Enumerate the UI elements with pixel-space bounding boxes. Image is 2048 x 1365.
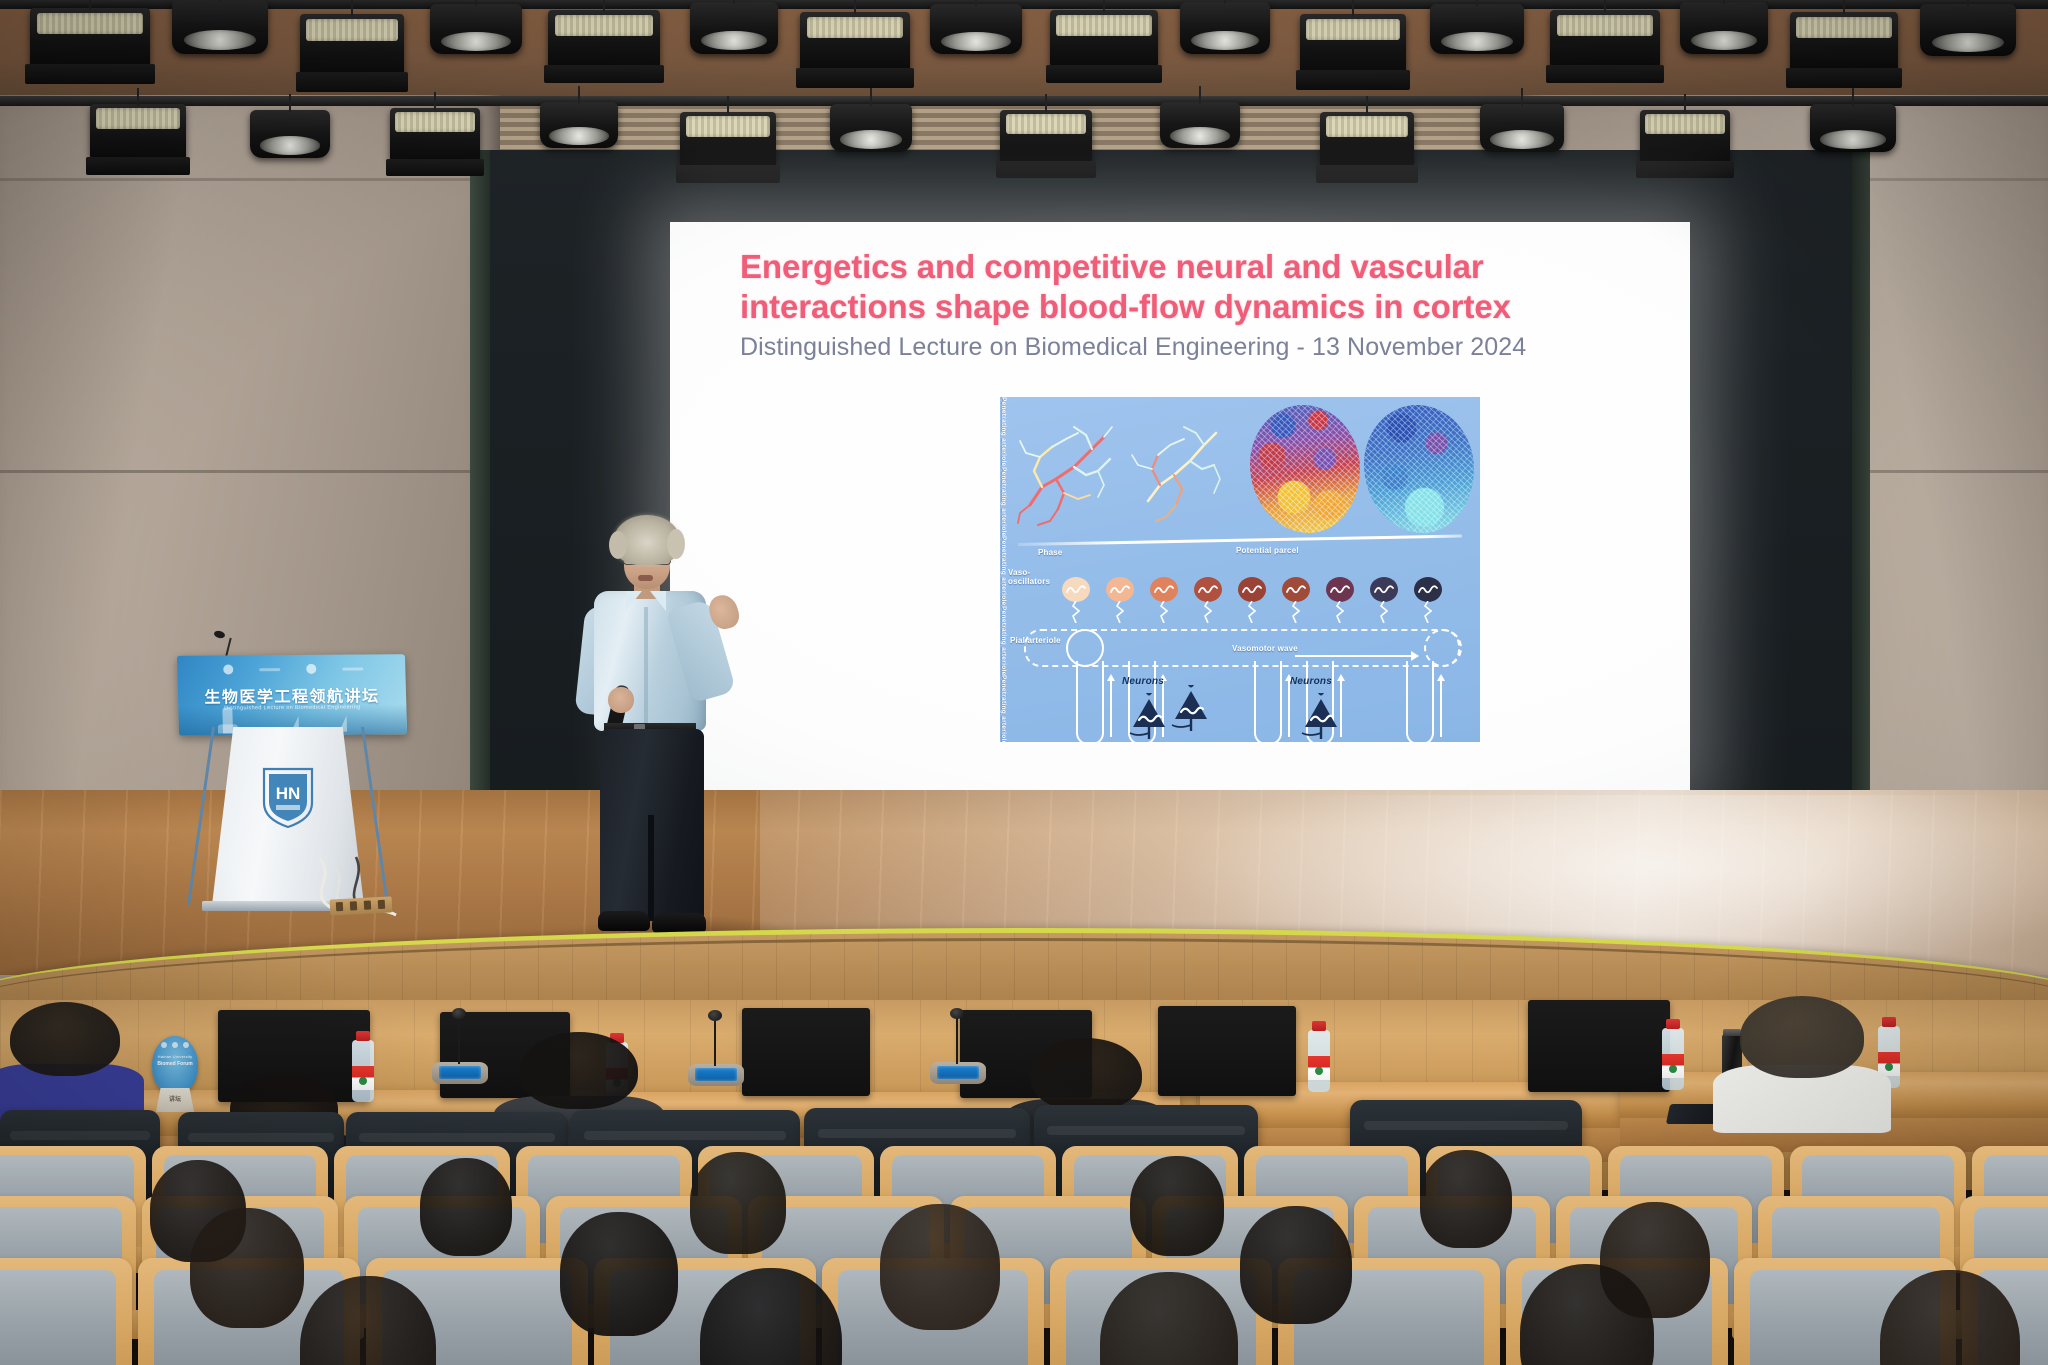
- stage-light-fixture-fres-5: [548, 10, 660, 68]
- light-lens: [1645, 114, 1724, 133]
- stage-light-fixture-par-14: [1680, 2, 1768, 54]
- light-body: [90, 104, 186, 160]
- university-crest-svg: HN: [260, 763, 316, 829]
- lecture-hall-photograph: Energetics and competitive neural and va…: [0, 0, 2048, 1365]
- seat-back-cushion: [0, 1270, 116, 1365]
- vaso-oscillator-7: [1326, 577, 1354, 602]
- pyramidal-neuron-3: [1300, 693, 1342, 739]
- figure-label-penetrating-arteriole-3: Penetrating arteriole: [1000, 536, 1007, 606]
- vascular-tree-svg-1: [1012, 409, 1122, 531]
- backdrop-right-edge: [1852, 150, 1870, 790]
- light-yoke: [1366, 96, 1368, 114]
- sign-line-2: Biomed Forum: [152, 1061, 198, 1067]
- light-body: [1050, 10, 1158, 68]
- pyramidal-neuron-svg-3: [1300, 693, 1342, 739]
- mic-gooseneck-1: [458, 1016, 460, 1064]
- light-lens: [96, 108, 180, 128]
- bottle-cap-4: [1666, 1019, 1680, 1029]
- floor-power-strip: [330, 896, 393, 915]
- penetrating-arteriole-3: [1254, 661, 1282, 742]
- bottle-label-3: [1308, 1056, 1330, 1080]
- oscillation-wave-icon-8: [1374, 584, 1394, 595]
- barn-door: [1636, 161, 1733, 178]
- light-body: [30, 8, 150, 68]
- barn-door: [86, 157, 190, 175]
- mic-display-1: [439, 1066, 481, 1079]
- audience-member-5: [1420, 1150, 1512, 1248]
- figure-label-neurons-right: Neurons: [1290, 677, 1332, 688]
- audience-head-15: [1880, 1270, 2020, 1365]
- light-yoke: [1684, 94, 1686, 112]
- light-yoke: [137, 88, 139, 106]
- light-yoke: [975, 0, 977, 6]
- vaso-oscillator-6: [1282, 577, 1310, 602]
- water-bottle-4: [1662, 1028, 1684, 1090]
- light-yoke: [603, 0, 605, 12]
- penetrating-arteriole-5: [1406, 661, 1434, 742]
- light-yoke: [475, 0, 477, 6]
- audience-head-3: [690, 1152, 786, 1254]
- light-lens: [1191, 31, 1259, 51]
- light-yoke: [1045, 94, 1047, 112]
- light-yoke: [870, 88, 872, 106]
- barn-door: [1786, 68, 1903, 87]
- lectern-left-edge: [187, 727, 215, 905]
- light-body: [1000, 110, 1092, 164]
- light-yoke: [289, 94, 291, 112]
- stage-light-fixture-par-26: [1480, 104, 1564, 152]
- attendee-head-1: [10, 1002, 120, 1076]
- conference-microphone-1[interactable]: [432, 1062, 488, 1084]
- light-body: [1180, 2, 1270, 54]
- light-body: [1430, 4, 1524, 54]
- attendee-head-4: [1740, 996, 1864, 1078]
- stage-light-fixture-fres-19: [390, 108, 480, 162]
- light-lens: [37, 13, 143, 35]
- lectern-banner: 生物医学工程领航讲坛 Distinguished Lecture on Biom…: [177, 654, 407, 736]
- banner-logo-2: [306, 664, 316, 674]
- conference-microphone-3[interactable]: [930, 1062, 986, 1084]
- light-lens: [1820, 130, 1885, 148]
- speaker-shirt-placket: [644, 607, 648, 725]
- light-yoke: [1723, 0, 1725, 4]
- table-sign-stand: 讲坛: [156, 1088, 194, 1112]
- light-lens: [1490, 130, 1554, 148]
- audience-member-15: [1880, 1270, 2020, 1365]
- light-body: [1300, 14, 1406, 74]
- banner-lighthouse-icon: [222, 707, 233, 733]
- audience-head-2: [420, 1158, 512, 1256]
- figure-label-potential-parcel: Potential parcel: [1236, 547, 1299, 556]
- stage-light-fixture-par-2: [172, 0, 268, 54]
- banner-palm-icon: [192, 714, 209, 734]
- speaker-hair: [614, 515, 680, 565]
- speaker-left-hand: [608, 687, 634, 713]
- light-body: [1550, 10, 1660, 68]
- oscillator-stem-7: [1336, 601, 1344, 623]
- light-lens: [1056, 15, 1151, 36]
- light-yoke: [1852, 88, 1854, 106]
- left-wall-seam-upper: [0, 178, 500, 181]
- oscillator-stem-4: [1204, 601, 1212, 623]
- light-yoke: [727, 96, 729, 114]
- banner-logo-row: [223, 663, 363, 676]
- penetrating-flow-arrow-5: [1440, 679, 1442, 737]
- stage-light-fixture-par-12: [1430, 4, 1524, 54]
- light-yoke: [89, 0, 91, 10]
- auditorium-seat-r3-1[interactable]: [0, 1258, 132, 1365]
- audience-head-12: [700, 1268, 842, 1365]
- front-row-attendee-1: [10, 1002, 120, 1122]
- left-wall-seam: [0, 470, 500, 473]
- speaker-right-shoe: [652, 913, 706, 933]
- light-lens: [1006, 114, 1087, 133]
- light-lens: [306, 19, 398, 41]
- light-lens: [1691, 31, 1758, 51]
- stage-light-fixture-fres-9: [1050, 10, 1158, 68]
- audience-member-11: [300, 1276, 436, 1365]
- stage-light-fixture-par-16: [1920, 4, 2016, 56]
- barn-door: [544, 65, 665, 84]
- slide-title: Energetics and competitive neural and va…: [740, 247, 1620, 328]
- oscillator-stem-8: [1380, 601, 1388, 623]
- vascular-tree-panel-1: [1012, 409, 1122, 531]
- oscillator-stem-3: [1160, 601, 1168, 623]
- barn-door: [796, 68, 915, 87]
- stage-light-fixture-par-28: [1810, 104, 1896, 152]
- stage-light-fixture-par-22: [830, 104, 912, 152]
- bottle-label-1: [352, 1066, 374, 1090]
- stage-light-fixture-fres-15: [1790, 12, 1898, 72]
- bottle-label-4: [1662, 1054, 1684, 1078]
- light-yoke: [434, 92, 436, 110]
- light-lens: [549, 127, 608, 144]
- audience-head-13: [1100, 1272, 1238, 1365]
- university-crest: HN: [260, 763, 316, 829]
- vaso-oscillator-8: [1370, 577, 1398, 602]
- light-body: [690, 2, 778, 54]
- mic-display-2: [695, 1068, 737, 1081]
- oscillation-wave-icon-4: [1198, 584, 1218, 595]
- light-lens: [1441, 32, 1512, 51]
- stage-light-fixture-par-24: [1160, 102, 1240, 148]
- vaso-oscillator-5: [1238, 577, 1266, 602]
- mic-gooseneck-2: [714, 1018, 716, 1066]
- backdrop-left-edge: [470, 150, 490, 790]
- oscillator-stem-6: [1292, 601, 1300, 623]
- stage-light-fixture-fres-7: [800, 12, 910, 72]
- banner-logo-1: [223, 664, 233, 674]
- light-lens: [184, 30, 257, 51]
- light-lens: [1932, 33, 2005, 53]
- stage-light-fixture-par-6: [690, 2, 778, 54]
- light-body: [430, 4, 522, 54]
- light-body: [548, 10, 660, 68]
- audience-head-5: [1420, 1150, 1512, 1248]
- figure-label-neurons-left: Neurons: [1122, 677, 1164, 688]
- light-yoke: [1103, 0, 1105, 12]
- crest-initials-text: HN: [276, 784, 301, 803]
- vaso-oscillator-9: [1414, 577, 1442, 602]
- oscillation-wave-icon-5: [1242, 584, 1262, 595]
- light-body: [930, 4, 1022, 54]
- oscillation-wave-icon-6: [1286, 584, 1306, 595]
- lighting-truss-lower: [0, 96, 2048, 106]
- slide-subtitle: Distinguished Lecture on Biomedical Engi…: [740, 332, 1640, 362]
- barn-door: [386, 159, 483, 176]
- light-yoke: [733, 0, 735, 4]
- banner-logo-text-1: [259, 668, 280, 671]
- water-bottle-3: [1308, 1030, 1330, 1092]
- barn-door: [676, 165, 780, 183]
- light-lens: [395, 112, 474, 131]
- light-yoke: [1199, 86, 1201, 104]
- light-yoke: [1843, 0, 1845, 14]
- penetrating-arteriole-1: [1076, 661, 1104, 742]
- audience-head-9: [1240, 1206, 1352, 1324]
- bottle-cap-5: [1882, 1017, 1896, 1027]
- light-yoke: [1967, 0, 1969, 6]
- light-body: [390, 108, 480, 162]
- speaker-left-shoe: [598, 911, 650, 931]
- light-yoke: [1521, 88, 1523, 106]
- light-lens: [840, 130, 902, 148]
- slide-figure: Phase Potential parcel Vaso-oscillators …: [1000, 397, 1480, 742]
- audience-head-4: [1130, 1156, 1224, 1256]
- bottle-cap-3: [1312, 1021, 1326, 1031]
- light-body: [1640, 110, 1730, 164]
- light-lens: [441, 32, 511, 51]
- water-bottle-1: [352, 1040, 374, 1102]
- barn-door: [296, 72, 408, 92]
- audience-member-6: [190, 1208, 304, 1328]
- vaso-oscillator-1: [1062, 577, 1090, 602]
- attendee-head-2: [520, 1032, 638, 1109]
- light-lens: [555, 15, 654, 36]
- light-yoke: [1604, 0, 1606, 12]
- pyramidal-neuron-svg-2: [1170, 685, 1212, 731]
- recessed-monitor-6: [1528, 1000, 1670, 1092]
- audience-head-14: [1520, 1264, 1654, 1365]
- stage-light-fixture-par-10: [1180, 2, 1270, 54]
- projection-screen: Energetics and competitive neural and va…: [670, 222, 1690, 797]
- oscillator-stem-9: [1424, 601, 1432, 623]
- light-yoke: [1476, 0, 1478, 6]
- attendee-head-3: [1030, 1038, 1142, 1111]
- stage-light-fixture-fres-13: [1550, 10, 1660, 68]
- audience-head-11: [300, 1276, 436, 1365]
- figure-top-panels: [1000, 397, 1480, 539]
- mic-capsule-3: [950, 1008, 964, 1019]
- light-body: [1790, 12, 1898, 72]
- audience-member-8: [880, 1204, 1000, 1330]
- audience-member-2: [420, 1158, 512, 1256]
- light-yoke: [854, 0, 856, 14]
- sign-logo-dots: [161, 1042, 189, 1048]
- barn-door: [1546, 65, 1665, 84]
- barn-door: [1046, 65, 1163, 84]
- audience-head-7: [560, 1212, 678, 1336]
- banner-logo-text-2: [342, 667, 363, 670]
- light-yoke: [1224, 0, 1226, 4]
- vascular-tree-panel-2: [1126, 409, 1236, 531]
- light-lens: [1796, 17, 1891, 39]
- figure-label-phase: Phase: [1038, 549, 1063, 558]
- vaso-oscillator-3: [1150, 577, 1178, 602]
- light-body: [1320, 112, 1414, 168]
- vascular-tree-svg-2: [1126, 409, 1236, 531]
- light-lens: [1170, 127, 1231, 144]
- oscillation-wave-icon-7: [1330, 584, 1350, 595]
- light-body: [540, 102, 618, 148]
- pyramidal-neuron-2: [1170, 685, 1212, 731]
- audience-member-14: [1520, 1264, 1654, 1365]
- light-body: [800, 12, 910, 72]
- audience-member-13: [1100, 1272, 1238, 1365]
- mic-capsule-1: [452, 1008, 466, 1019]
- audience-member-3: [690, 1152, 786, 1254]
- audience-head-6: [190, 1208, 304, 1328]
- audience-member-12: [700, 1268, 842, 1365]
- sign-line-1: Hainan University: [152, 1054, 198, 1059]
- light-lens: [1326, 116, 1409, 136]
- light-yoke: [351, 0, 353, 16]
- stage-light-fixture-fres-17: [90, 104, 186, 160]
- light-body: [1810, 104, 1896, 152]
- stage-light-fixture-fres-21: [680, 112, 776, 168]
- oscillation-wave-icon-9: [1418, 584, 1438, 595]
- conference-microphone-2[interactable]: [688, 1064, 744, 1086]
- light-body: [1480, 104, 1564, 152]
- speaker-shirt-collar: [624, 591, 668, 611]
- speaker-leg-gap: [648, 815, 654, 921]
- barn-door: [25, 64, 155, 83]
- front-row-attendee-4: [1740, 996, 1864, 1128]
- light-body: [1920, 4, 2016, 56]
- mic-capsule-2: [708, 1010, 722, 1021]
- barn-door: [996, 161, 1095, 178]
- light-body: [300, 14, 404, 76]
- figure-label-penetrating-arteriole-4: Penetrating arteriole: [1000, 606, 1007, 676]
- audience-member-7: [560, 1212, 678, 1336]
- audience-member-9: [1240, 1206, 1352, 1324]
- light-body: [250, 110, 330, 158]
- oscillation-wave-icon-3: [1154, 584, 1174, 595]
- light-yoke: [1352, 0, 1354, 16]
- light-lens: [807, 17, 904, 39]
- stage-light-fixture-fres-25: [1320, 112, 1414, 168]
- light-body: [172, 0, 268, 54]
- speaker-mouth: [638, 575, 653, 581]
- pyramidal-neuron-1: [1128, 693, 1170, 739]
- light-body: [680, 112, 776, 168]
- vaso-oscillator-4: [1194, 577, 1222, 602]
- stage-light-fixture-fres-11: [1300, 14, 1406, 74]
- light-body: [1160, 102, 1240, 148]
- stage-light-fixture-fres-23: [1000, 110, 1092, 164]
- pyramidal-neuron-svg-1: [1128, 693, 1170, 739]
- light-lens: [1557, 15, 1654, 36]
- vaso-oscillator-2: [1106, 577, 1134, 602]
- light-yoke: [219, 0, 221, 2]
- stage-light-fixture-par-8: [930, 4, 1022, 54]
- light-yoke: [578, 86, 580, 104]
- barn-door: [1316, 165, 1418, 183]
- stage-light-fixture-par-4: [430, 4, 522, 54]
- stage-light-fixture-fres-3: [300, 14, 404, 76]
- stage-light-fixture-fres-27: [1640, 110, 1730, 164]
- cortex-phase-map-2: [1364, 405, 1474, 533]
- recessed-monitor-3: [742, 1008, 870, 1096]
- sign-stand-text: 讲坛: [156, 1094, 194, 1103]
- light-lens: [701, 31, 768, 51]
- bottle-cap-1: [356, 1031, 370, 1041]
- light-body: [830, 104, 912, 152]
- stage-light-fixture-par-18: [250, 110, 330, 158]
- penetrating-flow-arrow-1: [1110, 679, 1112, 737]
- oscillator-stem-1: [1072, 601, 1080, 623]
- recessed-monitor-5: [1158, 1006, 1296, 1096]
- stage-light-fixture-par-20: [540, 102, 618, 148]
- vasomotor-wave-arrow: [1295, 655, 1413, 657]
- speaker-presenter: [558, 515, 748, 945]
- barn-door: [1296, 70, 1410, 89]
- audience-member-4: [1130, 1156, 1224, 1256]
- audience-head-8: [880, 1204, 1000, 1330]
- cortex-phase-map-1: [1250, 405, 1360, 533]
- oscillation-wave-icon-2: [1110, 584, 1130, 595]
- light-lens: [686, 116, 770, 136]
- light-lens: [260, 136, 321, 154]
- figure-label-vaso-oscillators: Vaso-oscillators: [1008, 569, 1056, 586]
- figure-label-penetrating-arteriole-5: Penetrating arteriole: [1000, 675, 1007, 742]
- table-name-sign: Hainan UniversityBiomed Forum: [152, 1036, 198, 1094]
- mic-display-3: [937, 1066, 979, 1079]
- oscillator-stem-5: [1248, 601, 1256, 623]
- stage-light-fixture-fres-1: [30, 8, 150, 68]
- light-body: [1680, 2, 1768, 54]
- oscillation-wave-icon-1: [1066, 584, 1086, 595]
- oscillator-stem-2: [1116, 601, 1124, 623]
- light-lens: [941, 32, 1011, 51]
- mic-gooseneck-3: [956, 1016, 958, 1064]
- light-lens: [1306, 19, 1399, 41]
